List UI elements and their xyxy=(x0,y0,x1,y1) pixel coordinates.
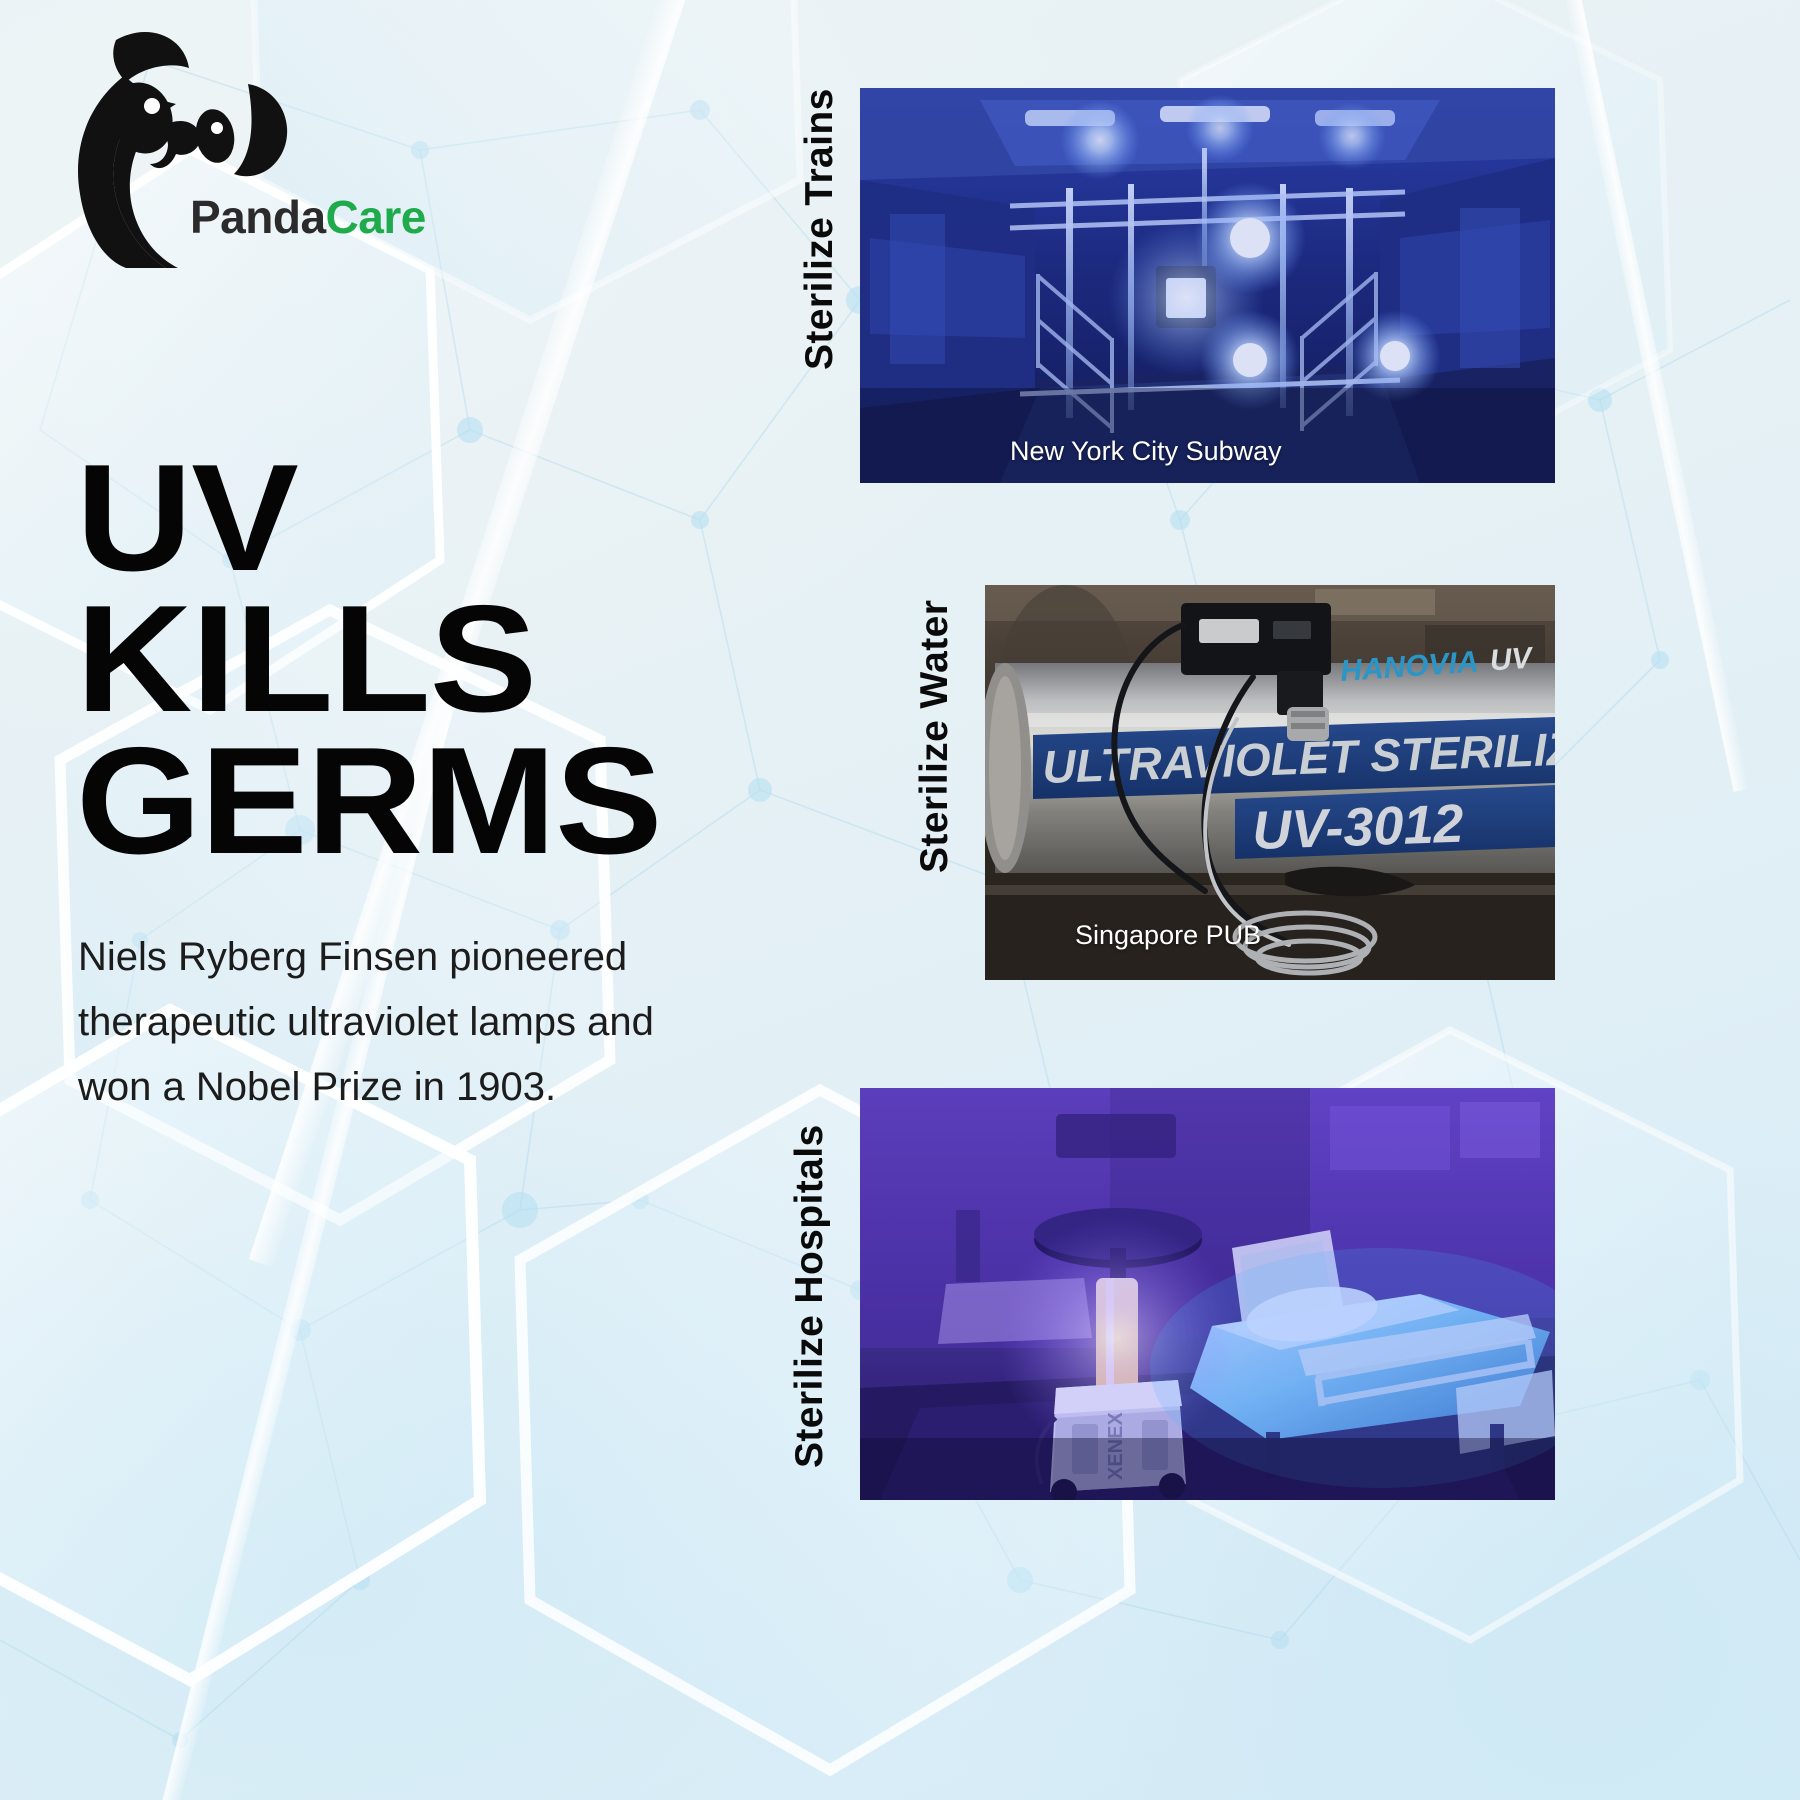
brand-name-part1: Panda xyxy=(190,191,326,243)
photo-uv-water-sterilizer: HANOVIA UV ULTRAVIOLET STERILIZER UV-301… xyxy=(985,585,1555,980)
photo-hospital-uv-robot: XENEX xyxy=(860,1088,1555,1500)
poster-canvas: PandaCare UV KILLS GERMS Niels Ryberg Fi… xyxy=(0,0,1800,1800)
photo-caption-trains: New York City Subway xyxy=(1010,436,1282,467)
brand-wordmark: PandaCare xyxy=(190,194,426,240)
brand-logo[interactable]: PandaCare xyxy=(52,18,382,268)
headline-line-3: GERMS xyxy=(76,731,818,872)
panel-sterilize-water: Sterilize Water xyxy=(915,585,1555,985)
panel-sterilize-hospitals: Sterilize Hospitals xyxy=(790,1088,1555,1500)
photo-subway-uv: New York City Subway xyxy=(860,88,1555,483)
headline-line-2: KILLS xyxy=(76,589,818,730)
body-line-1: Niels Ryberg Finsen pioneered xyxy=(78,925,758,990)
panel-label-trains: Sterilize Trains xyxy=(800,100,839,370)
page-title: UV KILLS GERMS xyxy=(76,448,818,872)
photo-caption-water: Singapore PUB xyxy=(1075,920,1261,951)
panel-label-water: Sterilize Water xyxy=(915,593,954,873)
brand-name-part2: Care xyxy=(326,191,426,243)
body-paragraph: Niels Ryberg Finsen pioneered therapeuti… xyxy=(78,925,758,1119)
body-line-2: therapeutic ultraviolet lamps and xyxy=(78,990,758,1055)
headline-line-1: UV xyxy=(76,448,818,589)
body-line-3: won a Nobel Prize in 1903. xyxy=(78,1055,758,1120)
panel-label-hospital: Sterilize Hospitals xyxy=(790,1128,829,1468)
panel-sterilize-trains: Sterilize Trains xyxy=(795,88,1555,488)
